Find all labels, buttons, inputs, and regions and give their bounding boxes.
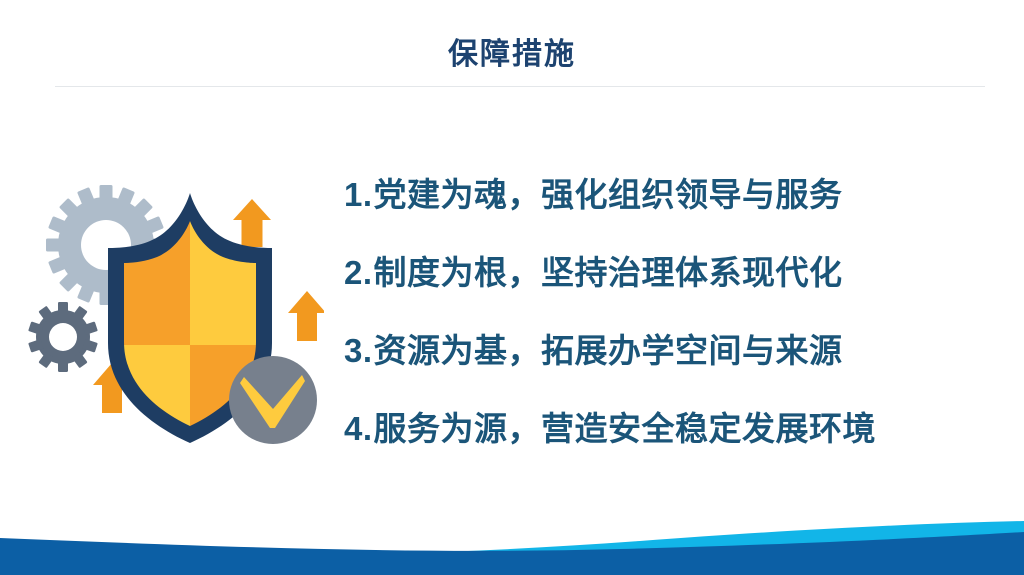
list-item-label: 党建为魂，强化组织领导与服务 [374,168,843,216]
title-divider [55,86,985,87]
check-circle-icon [229,356,317,444]
arrow-up-icon-right [288,291,324,341]
list-item-number: 2. [344,254,373,292]
list-item: 4. 服务为源，营造安全稳定发展环境 [344,402,994,480]
gear-small-icon [28,302,98,372]
slide-canvas: 保障措施 [0,0,1024,575]
arrow-up-icon-top-right [233,199,271,247]
list-item-number: 4. [344,410,373,448]
page-title: 保障措施 [0,38,1024,73]
list-item: 3. 资源为基，拓展办学空间与来源 [344,324,994,402]
list-item: 1. 党建为魂，强化组织领导与服务 [344,168,994,246]
list-item-label: 资源为基，拓展办学空间与来源 [374,324,843,372]
list-item-label: 服务为源，营造安全稳定发展环境 [374,402,877,450]
bottom-wave-decoration [0,475,1024,575]
list-item-number: 3. [344,332,373,370]
bullet-list: 1. 党建为魂，强化组织领导与服务 2. 制度为根，坚持治理体系现代化 3. 资… [344,168,994,480]
list-item-number: 1. [344,176,373,214]
list-item: 2. 制度为根，坚持治理体系现代化 [344,246,994,324]
shield-gears-arrows-illustration [14,185,324,455]
list-item-label: 制度为根，坚持治理体系现代化 [374,246,843,294]
